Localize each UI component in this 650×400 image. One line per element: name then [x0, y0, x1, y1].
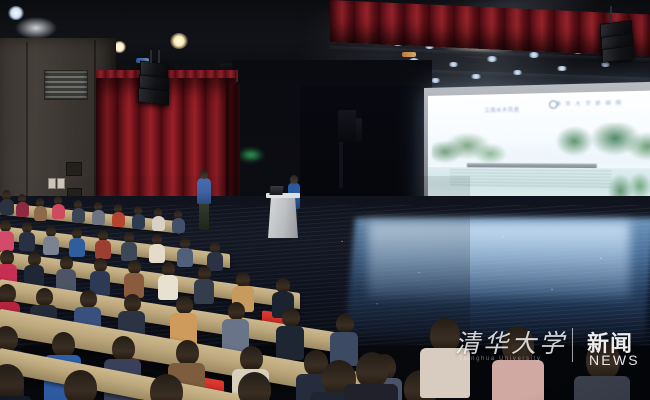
slide-trees-right	[553, 122, 650, 168]
auditorium-photo: 江南水乡风景 清 华 大 学 新 闻 网	[0, 0, 650, 400]
stage-monitor-speaker	[338, 110, 356, 142]
slide-water-reflection	[449, 169, 611, 189]
watermark-divider	[572, 328, 573, 362]
watermark: 清华大学 Tsinghua University 新闻 NEWS	[455, 322, 645, 380]
watermark-university-name: 清华大学	[455, 324, 567, 360]
watermark-university-name-en: Tsinghua University	[459, 356, 541, 362]
slide-logo-text: 清 华 大 学 新 闻 网	[556, 100, 623, 108]
slide-title-text: 江南水乡风景	[485, 106, 520, 114]
green-indicator-light	[238, 148, 264, 162]
wall-vent-grille	[44, 70, 88, 100]
wall-access-panel	[66, 162, 82, 176]
watermark-section-en: NEWS	[589, 352, 640, 368]
slide-trees-left	[432, 131, 507, 165]
ceiling-downlight	[8, 6, 24, 20]
